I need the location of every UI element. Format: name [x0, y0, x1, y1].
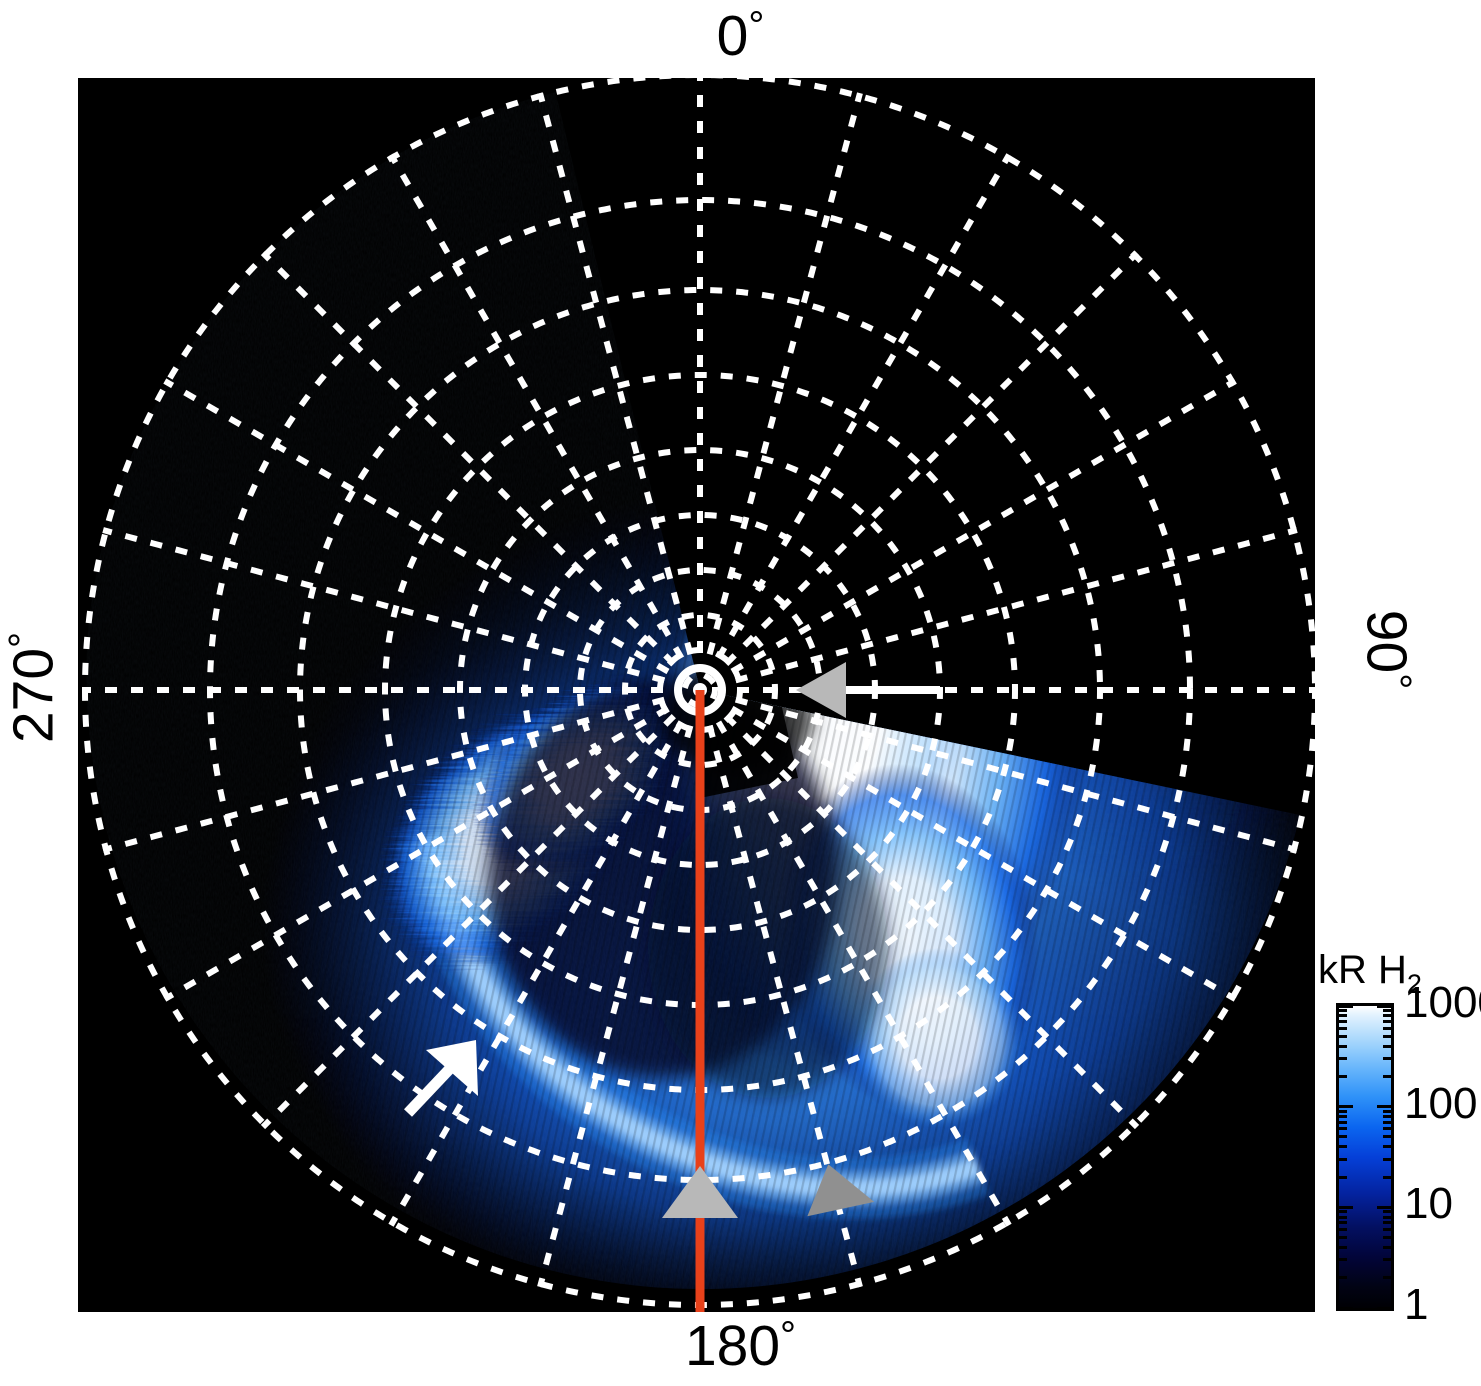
colorbar-minor-tick: [1339, 1145, 1347, 1148]
figure-root: 0° 180° 270° 90° kR H2 1000100101: [0, 0, 1481, 1386]
colorbar-minor-tick: [1383, 1145, 1391, 1148]
colorbar-minor-tick: [1383, 1221, 1391, 1224]
colorbar-major-tick-10: [1377, 1206, 1391, 1209]
colorbar-minor-tick: [1383, 1110, 1391, 1113]
colorbar-major-tick-10: [1339, 1206, 1353, 1209]
colorbar-minor-tick: [1339, 1110, 1347, 1113]
colorbar-minor-tick: [1339, 1075, 1347, 1078]
angular-label-0: 0°: [0, 6, 1481, 65]
colorbar-minor-tick: [1339, 1115, 1347, 1118]
colorbar-minor-tick: [1383, 1276, 1391, 1279]
colorbar-minor-tick: [1339, 1009, 1347, 1012]
colorbar-minor-tick: [1383, 1020, 1391, 1023]
colorbar-major-tick-1: [1339, 1307, 1353, 1310]
colorbar-minor-tick: [1383, 1027, 1391, 1030]
colorbar-minor-tick: [1383, 1210, 1391, 1213]
colorbar-minor-tick: [1339, 1027, 1347, 1030]
colorbar-minor-tick: [1383, 1246, 1391, 1249]
colorbar-major-tick-1: [1377, 1307, 1391, 1310]
angular-label-180: 180°: [0, 1316, 1481, 1375]
colorbar-minor-tick: [1383, 1035, 1391, 1038]
colorbar-minor-tick: [1339, 1246, 1347, 1249]
colorbar-minor-tick: [1339, 1121, 1347, 1124]
polar-plot-svg: [78, 78, 1315, 1312]
colorbar-minor-tick: [1383, 1236, 1391, 1239]
colorbar-minor-tick: [1383, 1228, 1391, 1231]
colorbar-minor-tick: [1339, 1236, 1347, 1239]
colorbar-minor-tick: [1383, 1258, 1391, 1261]
colorbar-label-1: 1: [1404, 1283, 1428, 1327]
colorbar-minor-tick: [1339, 1020, 1347, 1023]
colorbar-major-tick-100: [1339, 1105, 1353, 1108]
colorbar-minor-tick: [1339, 1210, 1347, 1213]
colorbar-minor-tick: [1383, 1045, 1391, 1048]
colorbar-minor-tick: [1339, 1221, 1347, 1224]
colorbar-minor-tick: [1339, 1258, 1347, 1261]
colorbar-minor-tick: [1339, 1035, 1347, 1038]
colorbar-minor-tick: [1339, 1135, 1347, 1138]
colorbar-minor-tick: [1383, 1158, 1391, 1161]
colorbar-major-tick-100: [1377, 1105, 1391, 1108]
colorbar-minor-tick: [1339, 1057, 1347, 1060]
colorbar-minor-tick: [1383, 1009, 1391, 1012]
polar-plot-area: [78, 78, 1315, 1312]
colorbar-minor-tick: [1339, 1014, 1347, 1017]
colorbar-minor-tick: [1383, 1127, 1391, 1130]
colorbar-minor-tick: [1383, 1075, 1391, 1078]
colorbar-minor-tick: [1383, 1121, 1391, 1124]
colorbar-minor-tick: [1383, 1057, 1391, 1060]
colorbar-minor-tick: [1339, 1216, 1347, 1219]
colorbar-minor-tick: [1339, 1158, 1347, 1161]
colorbar: kR H2 1000100101: [1318, 950, 1481, 1322]
colorbar-minor-tick: [1339, 1176, 1347, 1179]
colorbar-minor-tick: [1383, 1115, 1391, 1118]
colorbar-major-tick-1000: [1377, 1005, 1391, 1008]
colorbar-minor-tick: [1339, 1045, 1347, 1048]
angular-label-90: 90°: [1358, 555, 1417, 745]
angular-label-270: 270°: [4, 593, 63, 783]
colorbar-minor-tick: [1383, 1135, 1391, 1138]
colorbar-minor-tick: [1339, 1228, 1347, 1231]
colorbar-box: [1336, 1003, 1394, 1311]
colorbar-minor-tick: [1339, 1276, 1347, 1279]
colorbar-minor-tick: [1383, 1176, 1391, 1179]
colorbar-label-1000: 1000: [1404, 981, 1481, 1025]
colorbar-major-tick-1000: [1339, 1005, 1353, 1008]
colorbar-minor-tick: [1339, 1127, 1347, 1130]
colorbar-minor-tick: [1383, 1014, 1391, 1017]
colorbar-minor-tick: [1383, 1216, 1391, 1219]
colorbar-label-100: 100: [1404, 1082, 1477, 1126]
colorbar-label-10: 10: [1404, 1182, 1453, 1226]
